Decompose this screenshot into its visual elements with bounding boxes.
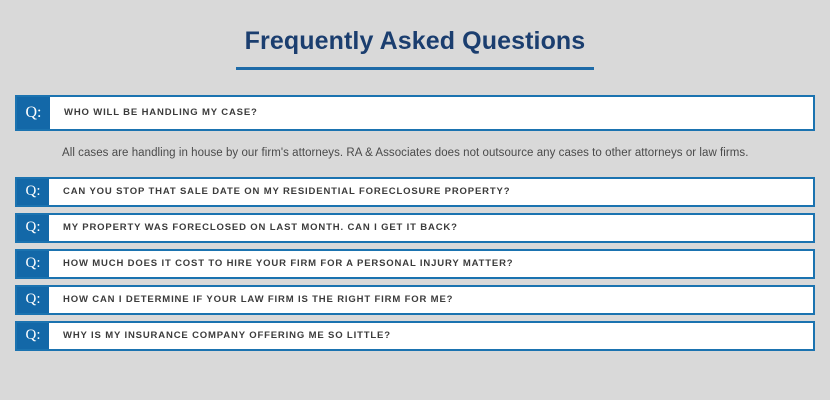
faq-question-text: HOW CAN I DETERMINE IF YOUR LAW FIRM IS … <box>49 287 813 313</box>
question-marker-icon: Q: <box>17 97 50 129</box>
question-marker-icon: Q: <box>17 251 49 277</box>
faq-answer-text: All cases are handling in house by our f… <box>15 131 815 177</box>
faq-question-row[interactable]: Q: HOW MUCH DOES IT COST TO HIRE YOUR FI… <box>15 249 815 279</box>
faq-item: Q: MY PROPERTY WAS FORECLOSED ON LAST MO… <box>15 213 815 243</box>
faq-question-row[interactable]: Q: WHO WILL BE HANDLING MY CASE? <box>15 95 815 131</box>
faq-page: Frequently Asked Questions Q: WHO WILL B… <box>0 0 830 400</box>
question-marker-icon: Q: <box>17 323 49 349</box>
page-title: Frequently Asked Questions <box>245 28 586 67</box>
faq-question-text: WHY IS MY INSURANCE COMPANY OFFERING ME … <box>49 323 813 349</box>
page-header: Frequently Asked Questions <box>0 0 830 70</box>
faq-question-row[interactable]: Q: CAN YOU STOP THAT SALE DATE ON MY RES… <box>15 177 815 207</box>
faq-item: Q: WHO WILL BE HANDLING MY CASE? All cas… <box>15 95 815 177</box>
faq-question-row[interactable]: Q: WHY IS MY INSURANCE COMPANY OFFERING … <box>15 321 815 351</box>
faq-item: Q: WHY IS MY INSURANCE COMPANY OFFERING … <box>15 321 815 351</box>
question-marker-icon: Q: <box>17 287 49 313</box>
faq-item: Q: HOW CAN I DETERMINE IF YOUR LAW FIRM … <box>15 285 815 315</box>
faq-item: Q: HOW MUCH DOES IT COST TO HIRE YOUR FI… <box>15 249 815 279</box>
question-marker-icon: Q: <box>17 179 49 205</box>
faq-question-row[interactable]: Q: MY PROPERTY WAS FORECLOSED ON LAST MO… <box>15 213 815 243</box>
faq-question-text: CAN YOU STOP THAT SALE DATE ON MY RESIDE… <box>49 179 813 205</box>
question-marker-icon: Q: <box>17 215 49 241</box>
faq-question-text: HOW MUCH DOES IT COST TO HIRE YOUR FIRM … <box>49 251 813 277</box>
title-underline-rule <box>236 67 594 70</box>
faq-item: Q: CAN YOU STOP THAT SALE DATE ON MY RES… <box>15 177 815 207</box>
faq-question-row[interactable]: Q: HOW CAN I DETERMINE IF YOUR LAW FIRM … <box>15 285 815 315</box>
faq-accordion-list: Q: WHO WILL BE HANDLING MY CASE? All cas… <box>0 95 830 351</box>
faq-question-text: MY PROPERTY WAS FORECLOSED ON LAST MONTH… <box>49 215 813 241</box>
faq-question-text: WHO WILL BE HANDLING MY CASE? <box>50 97 813 129</box>
